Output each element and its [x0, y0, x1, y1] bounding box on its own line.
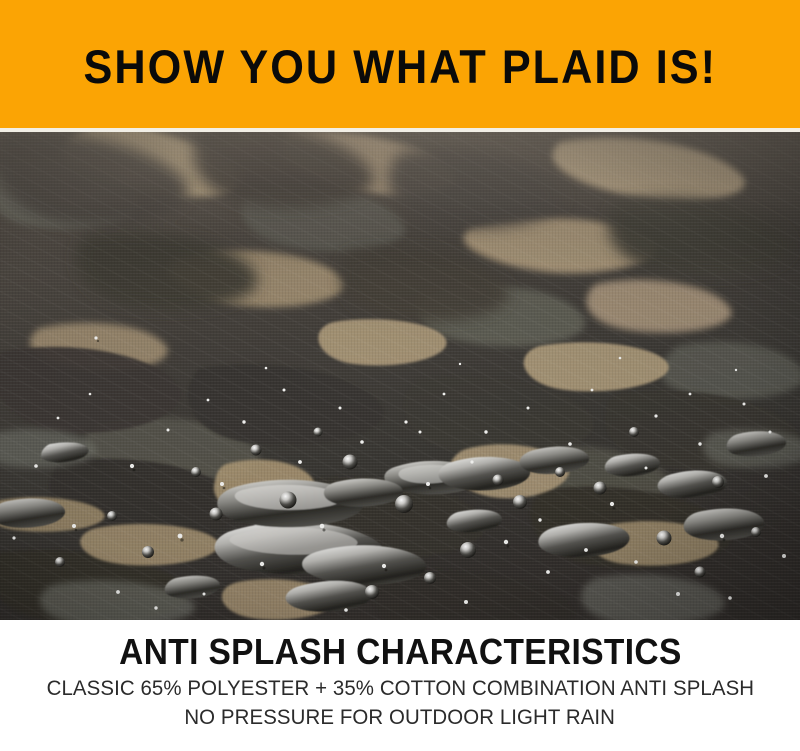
- caption-line-1: CLASSIC 65% POLYESTER + 35% COTTON COMBI…: [46, 674, 754, 702]
- caption-title: ANTI SPLASH CHARACTERISTICS: [119, 633, 681, 671]
- fabric-photo-graphic: [0, 132, 800, 620]
- caption-line-2: NO PRESSURE FOR OUTDOOR LIGHT RAIN: [185, 703, 616, 731]
- header-banner: SHOW YOU WHAT PLAID IS!: [0, 0, 800, 128]
- caption-block: ANTI SPLASH CHARACTERISTICS CLASSIC 65% …: [0, 620, 800, 751]
- product-feature-panel: SHOW YOU WHAT PLAID IS!: [0, 0, 800, 751]
- camouflage-fabric-photo: [0, 132, 800, 620]
- banner-headline: SHOW YOU WHAT PLAID IS!: [83, 39, 716, 90]
